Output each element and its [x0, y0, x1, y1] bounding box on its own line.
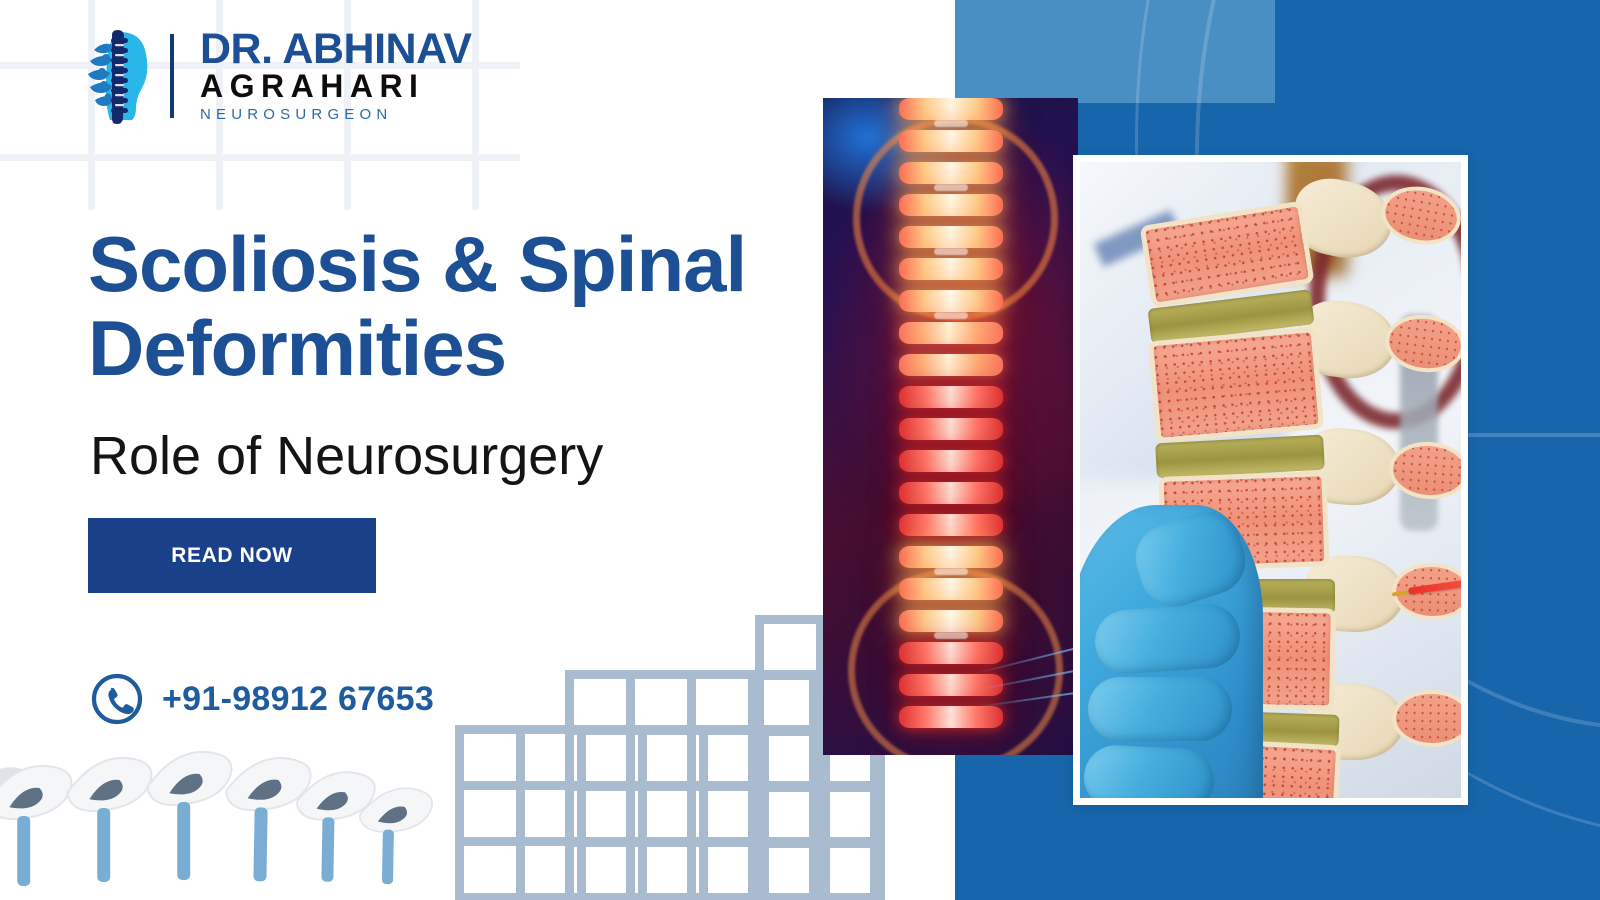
page-subtitle: Role of Neurosurgery [90, 425, 603, 487]
panel-bottom-block [955, 805, 1355, 900]
content-column: DR. ABHINAV AGRAHARI NEUROSURGEON Scolio… [0, 0, 955, 900]
glove-finger [1082, 744, 1215, 798]
phone-circle-icon [90, 672, 144, 726]
brand-logo[interactable]: DR. ABHINAV AGRAHARI NEUROSURGEON [84, 28, 472, 125]
logo-wordmark: DR. ABHINAV AGRAHARI NEUROSURGEON [188, 28, 472, 125]
logo-name-line: DR. ABHINAV [200, 28, 472, 70]
vertebra-tip-crosssection [1392, 689, 1461, 748]
light-blue-block [955, 0, 1275, 103]
phone-number-text: +91-98912 67653 [162, 680, 434, 719]
banner-root: DR. ABHINAV AGRAHARI NEUROSURGEON Scolio… [0, 0, 1600, 900]
glove-finger [1088, 677, 1233, 741]
logo-surname-line: AGRAHARI [200, 70, 472, 104]
vertebra-tip-crosssection [1387, 439, 1461, 502]
logo-specialty-line: NEUROSURGEON [200, 104, 472, 125]
logo-divider [170, 34, 174, 118]
glove-finger [1093, 602, 1242, 676]
brain-spine-head-icon [84, 28, 156, 124]
photo-spine-model-gloved-hand [1073, 155, 1468, 805]
vertebral-body [1148, 327, 1324, 443]
read-now-button[interactable]: READ NOW [88, 518, 376, 593]
page-title: Scoliosis & Spinal Deformities [88, 222, 848, 390]
photo-model-scene [1080, 162, 1461, 798]
contact-phone[interactable]: +91-98912 67653 [90, 672, 434, 726]
